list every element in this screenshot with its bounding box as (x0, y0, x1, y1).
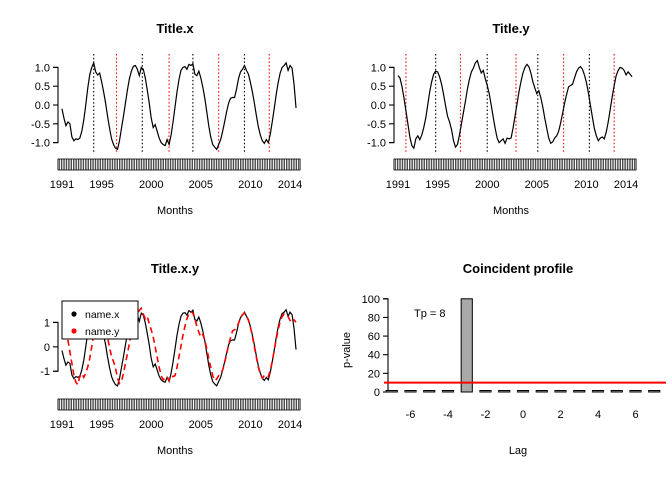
series-line-name.x (62, 63, 296, 149)
y-tick-label-0: 1.0 (371, 62, 386, 74)
bar-lag--1 (499, 391, 510, 393)
y-tick-label-3: 40 (368, 350, 380, 362)
panel-coincident-xlabel: Lag (509, 445, 527, 457)
bar-lag--3 (461, 299, 472, 392)
x-tick-label-4: 2 (557, 409, 563, 421)
bar-lag--4 (442, 391, 453, 393)
x-tick-label-3: 2005 (525, 179, 549, 191)
x-tick-label-3: 2005 (189, 419, 213, 431)
y-tick-label-1: 0.5 (35, 81, 50, 93)
x-tick-label-5: 4 (595, 409, 601, 421)
panel-title-y-svg: Title.y 1.00.50.0-0.5-1.0199119952000200… (336, 0, 672, 240)
y-tick-label-1: 0 (44, 342, 50, 354)
x-tick-label-5: 2014 (614, 179, 638, 191)
panel-title-x-xlabel: Months (157, 205, 194, 217)
panel-coincident-title: Coincident profile (463, 261, 574, 276)
x-tick-label-1: -4 (443, 409, 453, 421)
y-tick-label-3: -0.5 (31, 119, 50, 131)
legend-label-name.y: name.y (85, 326, 120, 338)
tp-annotation: Tp = 8 (414, 308, 446, 320)
y-tick-label-4: -1.0 (367, 138, 386, 150)
panel-coincident-plot: 100806040200-6-4-20246 (362, 294, 666, 421)
x-tick-label-0: 1991 (50, 419, 74, 431)
y-tick-label-1: 80 (368, 312, 380, 324)
bar-lag-2 (555, 391, 566, 393)
y-tick-label-2: -1 (40, 366, 50, 378)
y-tick-label-4: 20 (368, 368, 380, 380)
x-tick-label-3: 2005 (189, 179, 213, 191)
x-tick-label-1: 1995 (89, 419, 113, 431)
bar-lag-6 (630, 391, 641, 393)
x-tick-label-2: -2 (481, 409, 491, 421)
x-tick-label-5: 2014 (278, 419, 302, 431)
bar-lag--2 (480, 391, 491, 393)
panel-title-x-title: Title.x (156, 21, 194, 36)
legend-marker-name.y (71, 328, 76, 333)
bar-lag-5 (611, 391, 622, 393)
y-tick-label-2: 60 (368, 331, 380, 343)
panel-title-y: Title.y 1.00.50.0-0.5-1.0199119952000200… (336, 0, 672, 240)
legend: name.xname.y (62, 301, 138, 339)
y-tick-label-2: 0.0 (371, 100, 386, 112)
panel-title-x-y-svg: Title.x.y 10-1199119952000200520102014 n… (0, 240, 336, 480)
panel-title-x-y: Title.x.y 10-1199119952000200520102014 n… (0, 240, 336, 480)
bar-lag--7 (386, 391, 397, 393)
x-tick-label-2: 2000 (475, 179, 499, 191)
x-tick-label-2: 2000 (139, 419, 163, 431)
panel-coincident-profile-svg: Coincident profile p-value 100806040200-… (336, 240, 672, 480)
panel-title-x-y-xlabel: Months (157, 445, 194, 457)
y-tick-label-1: 0.5 (371, 81, 386, 93)
panel-title-y-title: Title.y (492, 21, 530, 36)
bar-lag-0 (517, 391, 528, 393)
bar-lag-4 (592, 391, 603, 393)
bar-lag-3 (574, 391, 585, 393)
legend-label-name.x: name.x (85, 309, 120, 321)
legend-marker-name.x (71, 311, 76, 316)
x-tick-label-0: -6 (406, 409, 416, 421)
x-tick-label-0: 1991 (50, 179, 74, 191)
x-tick-label-5: 2014 (278, 179, 302, 191)
figure-canvas: Title.x 1.00.50.0-0.5-1.0199119952000200… (0, 0, 672, 480)
series-line-name.y (398, 61, 632, 149)
panel-title-x-svg: Title.x 1.00.50.0-0.5-1.0199119952000200… (0, 0, 336, 240)
bar-lag--5 (424, 391, 435, 393)
bar-lag-1 (536, 391, 547, 393)
bar-lag-7 (649, 391, 660, 393)
panel-title-y-xlabel: Months (493, 205, 530, 217)
x-tick-label-3: 0 (520, 409, 526, 421)
y-axis-line (383, 299, 388, 392)
x-tick-label-4: 2010 (238, 419, 262, 431)
x-tick-label-2: 2000 (139, 179, 163, 191)
x-tick-label-4: 2010 (574, 179, 598, 191)
y-tick-label-0: 1 (44, 317, 50, 329)
panel-coincident-profile: Coincident profile p-value 100806040200-… (336, 240, 672, 480)
x-tick-label-1: 1995 (425, 179, 449, 191)
panel-coincident-ylabel: p-value (341, 332, 353, 368)
y-tick-label-5: 0 (374, 387, 380, 399)
y-tick-label-4: -1.0 (31, 138, 50, 150)
y-tick-label-0: 1.0 (35, 62, 50, 74)
x-tick-label-6: 6 (632, 409, 638, 421)
x-tick-label-0: 1991 (386, 179, 410, 191)
bar-lag--6 (405, 391, 416, 393)
y-tick-label-2: 0.0 (35, 100, 50, 112)
panel-title-x-plot: 1.00.50.0-0.5-1.019911995200020052010201… (31, 54, 302, 191)
panel-title-x-y-title: Title.x.y (151, 261, 200, 276)
panel-title-x: Title.x 1.00.50.0-0.5-1.0199119952000200… (0, 0, 336, 240)
panel-title-y-plot: 1.00.50.0-0.5-1.019911995200020052010201… (367, 54, 638, 191)
x-tick-label-4: 2010 (238, 179, 262, 191)
y-tick-label-3: -0.5 (367, 119, 386, 131)
x-tick-label-1: 1995 (89, 179, 113, 191)
y-tick-label-0: 100 (362, 294, 380, 306)
